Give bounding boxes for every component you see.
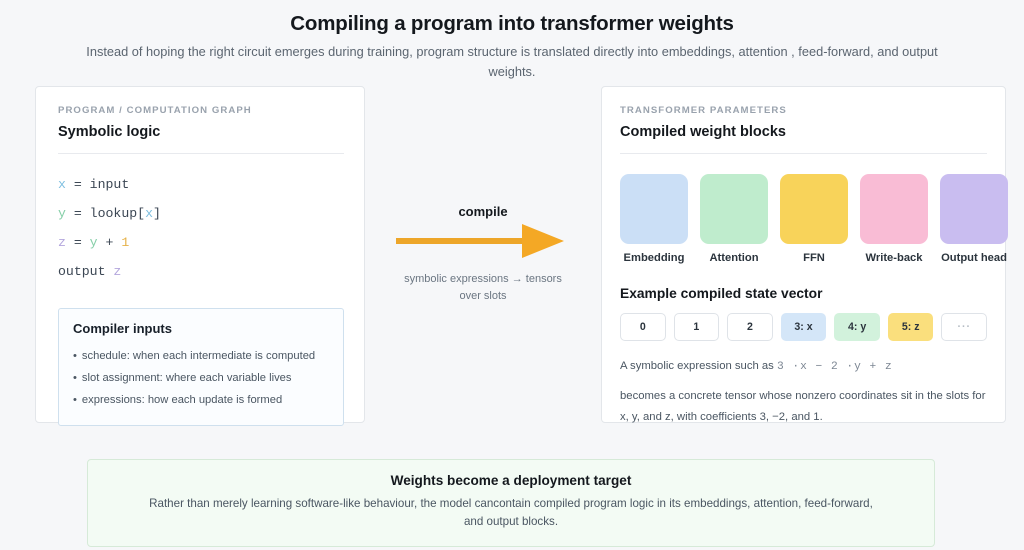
program-panel-divider — [58, 153, 344, 154]
code-token: x — [58, 177, 66, 192]
explanation-expression: 3 ·x − 2 ·y + z — [777, 361, 893, 373]
weight-block-swatch — [860, 174, 928, 244]
program-panel: PROGRAM / COMPUTATION GRAPH Symbolic log… — [35, 86, 365, 423]
code-token: = — [66, 206, 90, 221]
weight-block-label: FFN — [780, 252, 848, 264]
callout-body: Rather than merely learning software-lik… — [146, 495, 876, 531]
state-vector-explanation: A symbolic expression such as 3 ·x − 2 ·… — [620, 356, 987, 428]
code-token: = — [66, 235, 90, 250]
weight-block: FFN — [780, 174, 848, 264]
code-token: lookup[ — [90, 206, 145, 221]
weight-block-label: Write-back — [860, 252, 928, 264]
explanation-line-1: A symbolic expression such as 3 ·x − 2 ·… — [620, 356, 987, 378]
weight-block-swatch — [700, 174, 768, 244]
state-vector-title: Example compiled state vector — [620, 286, 987, 301]
state-vector-cell: ··· — [941, 313, 987, 341]
weight-block-label: Embedding — [620, 252, 688, 264]
page-header: Compiling a program into transformer wei… — [0, 0, 1024, 81]
page-title: Compiling a program into transformer wei… — [0, 10, 1024, 38]
compile-caption: symbolic expressions → tensors over slot… — [393, 271, 573, 305]
state-vector-cell: 4: y — [834, 313, 880, 341]
weight-block: Output head — [940, 174, 1008, 264]
weight-block: Attention — [700, 174, 768, 264]
compiler-inputs-title: Compiler inputs — [73, 321, 329, 336]
compiler-inputs-box: Compiler inputs schedule: when each inte… — [58, 308, 344, 426]
code-token: output — [58, 264, 113, 279]
state-vector-cell: 2 — [727, 313, 773, 341]
transformer-panel-eyebrow: TRANSFORMER PARAMETERS — [620, 105, 987, 116]
code-token: ] — [153, 206, 161, 221]
compiler-input-item: schedule: when each intermediate is comp… — [73, 345, 329, 367]
weight-block-swatch — [940, 174, 1008, 244]
code-token: = — [66, 177, 90, 192]
explanation-prefix: A symbolic expression such as — [620, 360, 777, 372]
compiler-input-item: slot assignment: where each variable liv… — [73, 367, 329, 389]
code-token: y — [58, 206, 66, 221]
state-vector-cell: 1 — [674, 313, 720, 341]
compile-arrow — [396, 224, 571, 258]
code-token: 1 — [121, 235, 129, 250]
weight-block-swatch — [780, 174, 848, 244]
program-panel-title: Symbolic logic — [58, 124, 344, 140]
symbolic-code-block: x = inputy = lookup[x]z = y + 1output z — [58, 170, 344, 286]
weight-block: Embedding — [620, 174, 688, 264]
program-panel-eyebrow: PROGRAM / COMPUTATION GRAPH — [58, 105, 344, 116]
code-token: y — [90, 235, 98, 250]
code-line: z = y + 1 — [58, 228, 344, 257]
code-token: z — [58, 235, 66, 250]
state-vector-cell: 3: x — [781, 313, 827, 341]
transformer-panel-divider — [620, 153, 987, 154]
code-line: x = input — [58, 170, 344, 199]
callout-title: Weights become a deployment target — [108, 473, 914, 488]
arrow-shaft-icon — [396, 238, 526, 244]
main-band: PROGRAM / COMPUTATION GRAPH Symbolic log… — [0, 86, 1024, 423]
code-token: input — [90, 177, 130, 192]
code-token: x — [145, 206, 153, 221]
transformer-panel: TRANSFORMER PARAMETERS Compiled weight b… — [601, 86, 1006, 423]
transformer-panel-title: Compiled weight blocks — [620, 124, 987, 140]
compiler-input-item: expressions: how each update is formed — [73, 389, 329, 411]
weight-block-label: Attention — [700, 252, 768, 264]
weight-block-swatch — [620, 174, 688, 244]
weight-blocks-row: EmbeddingAttentionFFNWrite-backOutput he… — [620, 174, 987, 264]
state-vector-row: 0123: x4: y5: z··· — [620, 313, 987, 341]
weight-block: Write-back — [860, 174, 928, 264]
compiler-inputs-list: schedule: when each intermediate is comp… — [73, 345, 329, 411]
compile-arrow-column: compile symbolic expressions → tensors o… — [378, 86, 588, 423]
state-vector-cell: 5: z — [888, 313, 934, 341]
code-token: z — [113, 264, 121, 279]
page-subtitle: Instead of hoping the right circuit emer… — [82, 42, 942, 82]
explanation-line-2: becomes a concrete tensor whose nonzero … — [620, 386, 987, 428]
code-line: output z — [58, 257, 344, 286]
code-line: y = lookup[x] — [58, 199, 344, 228]
compile-label: compile — [458, 204, 507, 219]
state-vector-cell: 0 — [620, 313, 666, 341]
arrow-head-icon — [522, 224, 564, 258]
weight-block-label: Output head — [940, 252, 1008, 264]
code-token: + — [98, 235, 122, 250]
deployment-callout: Weights become a deployment target Rathe… — [87, 459, 935, 547]
